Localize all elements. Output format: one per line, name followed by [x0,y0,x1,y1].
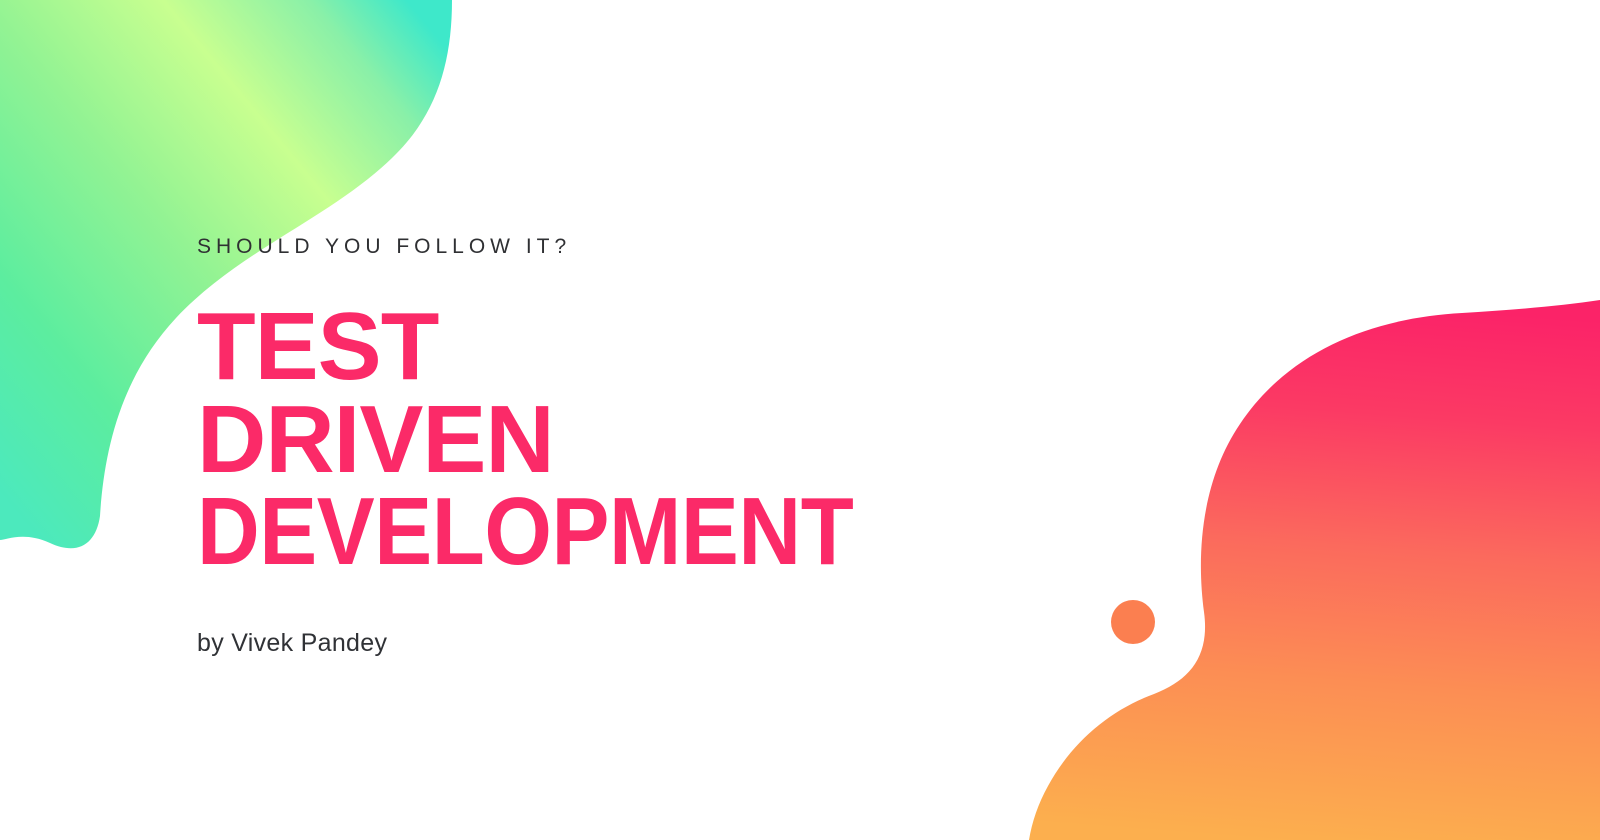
page-title: TEST DRIVEN DEVELOPMENT [197,301,1057,579]
eyebrow-text: SHOULD YOU FOLLOW IT? [197,236,1057,257]
pink-orange-gradient-blob [1029,300,1600,840]
title-block: SHOULD YOU FOLLOW IT? TEST DRIVEN DEVELO… [197,236,1057,656]
headline-line-1: TEST [197,301,1057,394]
headline-line-3: DEVELOPMENT [197,486,975,579]
headline-line-2: DRIVEN [197,394,1057,487]
orange-accent-dot [1111,600,1155,644]
presentation-slide: SHOULD YOU FOLLOW IT? TEST DRIVEN DEVELO… [0,0,1600,840]
author-byline: by Vivek Pandey [197,631,1057,656]
